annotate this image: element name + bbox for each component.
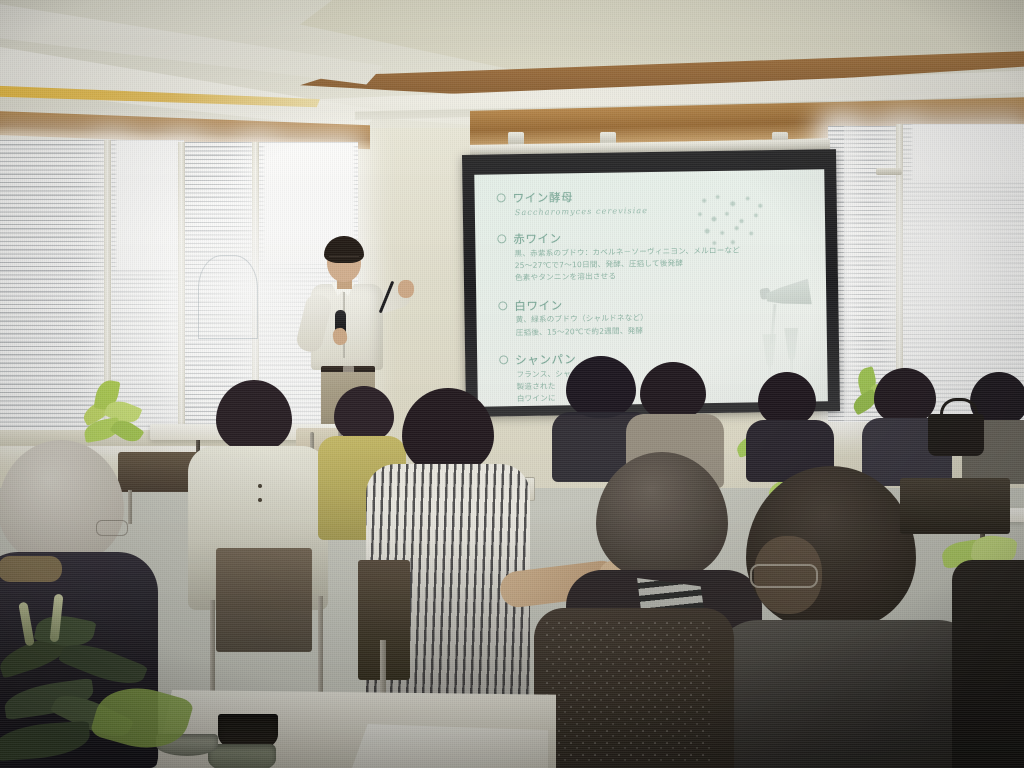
- blind-open-gap: [116, 140, 178, 270]
- head: [758, 372, 816, 426]
- bullet-circle-icon: [497, 193, 506, 202]
- glasses-icon: [96, 520, 128, 536]
- chair-right-foreground[interactable]: [900, 478, 1010, 534]
- attendee-right-shoulder-edge: [952, 560, 1024, 768]
- window-mullion: [178, 142, 185, 442]
- glasses-icon: [329, 256, 359, 264]
- handbag-handle-icon: [940, 398, 978, 421]
- bullet-circle-icon: [497, 234, 506, 243]
- chair-behind-cream-blouse[interactable]: [216, 548, 312, 652]
- slide-heading: 白ワイン: [514, 297, 563, 314]
- floral-pattern: [544, 620, 714, 766]
- bullet-circle-icon: [498, 301, 507, 310]
- slide-heading: 赤ワイン: [513, 230, 562, 247]
- head: [0, 440, 124, 564]
- blind-open-gap: [912, 124, 1024, 182]
- button-icon: [258, 484, 262, 488]
- yeast-micrograph-icon: [693, 190, 772, 249]
- presenter-right-hand: [398, 280, 414, 298]
- button-icon: [258, 498, 262, 502]
- plant-left-window: [78, 372, 152, 442]
- glasses-icon: [750, 564, 818, 588]
- torso: [952, 560, 1024, 768]
- head: [874, 368, 936, 424]
- window-frame-reflection: [198, 255, 258, 339]
- slide-heading: ワイン酵母: [513, 189, 574, 206]
- flower-spike: [18, 602, 35, 647]
- attendee-floral-top: [534, 568, 734, 768]
- torso: [714, 620, 982, 768]
- head: [596, 452, 728, 580]
- tea-bowl-green[interactable]: [208, 744, 276, 768]
- leaf: [0, 721, 91, 762]
- collar: [0, 556, 62, 582]
- photo-scene: ワイン酵母 Saccharomyces cerevisiae 赤ワイン 黒、赤紫…: [0, 0, 1024, 768]
- head: [640, 362, 706, 420]
- chair-leg: [318, 596, 323, 702]
- bullet-circle-icon: [499, 356, 508, 365]
- champagne-pour-icon: [732, 281, 815, 378]
- champagne-bottle-icon: [764, 279, 811, 311]
- head: [216, 380, 292, 452]
- head: [566, 356, 636, 418]
- wall-bracket: [876, 168, 902, 175]
- handout-paper[interactable]: [352, 724, 548, 768]
- head: [402, 388, 494, 474]
- attendee-back-center: [750, 372, 830, 478]
